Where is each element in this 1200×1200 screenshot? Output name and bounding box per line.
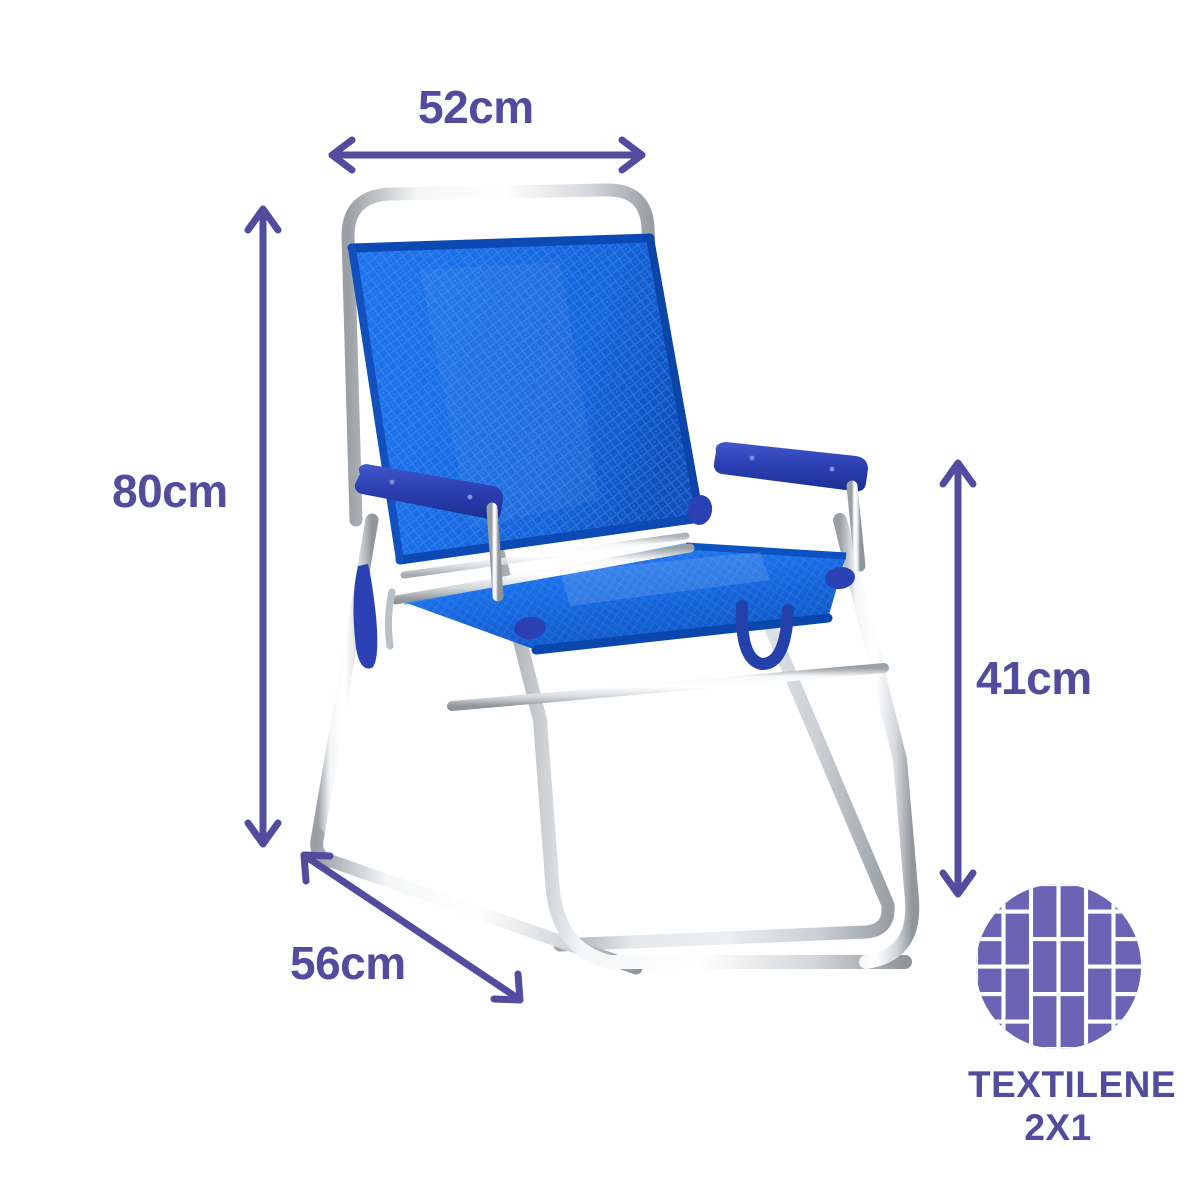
badge-material-name: TEXTILENE <box>968 1065 1148 1106</box>
badge-material-spec: 2X1 <box>968 1108 1148 1149</box>
chair-backrest-fabric <box>352 238 700 560</box>
dimension-label-depth: 56cm <box>290 940 406 986</box>
dimension-label-height: 80cm <box>112 468 228 514</box>
basketweave-pattern-icon <box>976 884 1141 1049</box>
textilene-badge: TEXTILENE 2X1 <box>968 884 1148 1164</box>
product-dimension-diagram: 52cm 80cm 41cm 56cm <box>0 0 1200 1200</box>
dimension-label-seat-height: 41cm <box>976 655 1092 701</box>
dimension-label-width: 52cm <box>418 84 534 130</box>
